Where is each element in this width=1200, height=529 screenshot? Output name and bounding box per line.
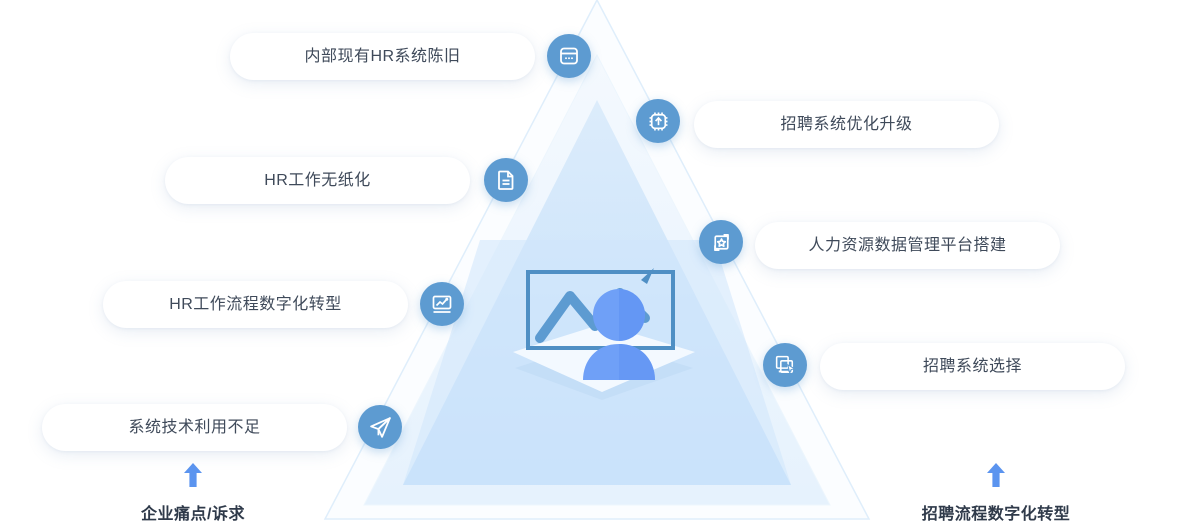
pill-left-3-label: HR工作流程数字化转型 <box>169 297 342 313</box>
pill-right-2[interactable]: 人力资源数据管理平台搭建 <box>755 222 1060 269</box>
pill-right-1-label: 招聘系统优化升级 <box>780 117 912 133</box>
pill-left-1-label: 内部现有HR系统陈旧 <box>304 49 460 65</box>
pill-right-3[interactable]: 招聘系统选择 <box>820 343 1125 390</box>
chart-frame <box>528 272 673 348</box>
caption-left: 企业痛点/诉求 <box>93 500 293 524</box>
monitor-trend-icon[interactable] <box>420 282 464 326</box>
platform-base <box>513 324 695 392</box>
caption-left-label: 企业痛点/诉求 <box>141 506 245 523</box>
pill-right-1[interactable]: 招聘系统优化升级 <box>694 101 999 148</box>
document-icon[interactable] <box>484 158 528 202</box>
infographic-canvas: 内部现有HR系统陈旧 HR工作无纸化 HR工作流程数字化转型 <box>0 0 1200 529</box>
platform-shadow <box>515 340 693 400</box>
pill-left-3[interactable]: HR工作流程数字化转型 <box>103 281 408 328</box>
person-figure <box>583 289 655 380</box>
caption-right: 招聘流程数字化转型 <box>871 500 1121 524</box>
arrow-up-icon-left <box>182 462 204 488</box>
pill-left-1[interactable]: 内部现有HR系统陈旧 <box>230 33 535 80</box>
arrow-up-icon-right <box>985 462 1007 488</box>
pill-left-2[interactable]: HR工作无纸化 <box>165 157 470 204</box>
chip-upgrade-icon[interactable] <box>636 99 680 143</box>
pill-left-4-label: 系统技术利用不足 <box>128 420 260 436</box>
accent-mark <box>641 268 654 284</box>
pill-left-2-label: HR工作无纸化 <box>264 173 371 189</box>
caption-right-label: 招聘流程数字化转型 <box>922 506 1071 523</box>
star-rotate-icon[interactable] <box>699 220 743 264</box>
data-platform-illustration <box>495 240 710 425</box>
pill-right-2-label: 人力资源数据管理平台搭建 <box>808 238 1006 254</box>
paper-plane-icon[interactable] <box>358 405 402 449</box>
browser-window-icon[interactable] <box>547 34 591 78</box>
triangle-band <box>403 240 791 485</box>
pill-right-3-label: 招聘系统选择 <box>923 359 1022 375</box>
layers-cursor-icon[interactable] <box>763 343 807 387</box>
pill-left-4[interactable]: 系统技术利用不足 <box>42 404 347 451</box>
trend-line <box>540 293 645 338</box>
